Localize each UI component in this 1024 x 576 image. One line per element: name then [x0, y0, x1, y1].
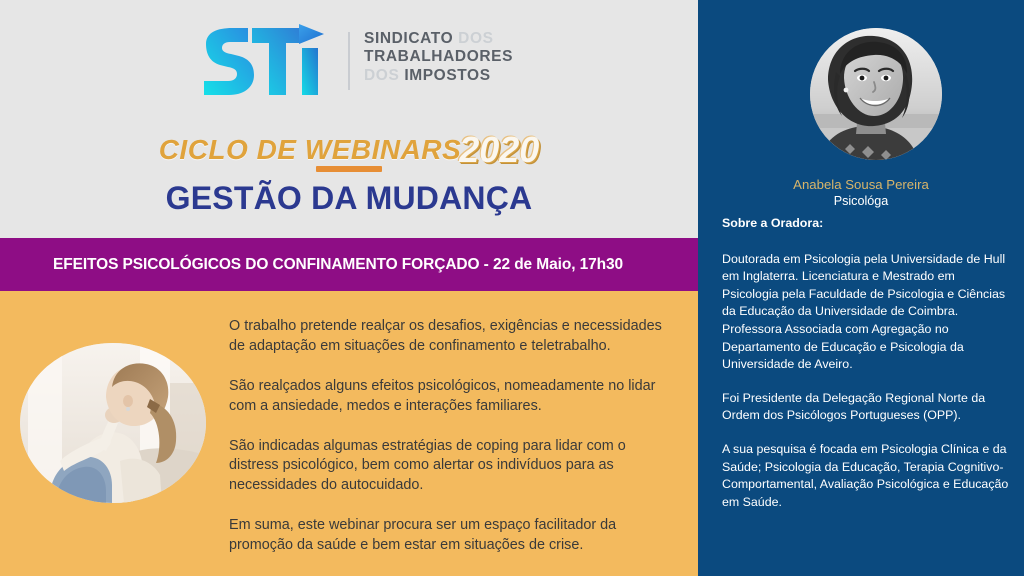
series-heading: CICLO DE WEBINARS2020 — [0, 126, 698, 170]
sti-logo: SINDICATO DOS TRABALHADORES DOS IMPOSTOS — [196, 22, 496, 102]
speaker-bio: Sobre a Oradora: Doutorada em Psicologia… — [722, 215, 1014, 512]
webinar-poster: SINDICATO DOS TRABALHADORES DOS IMPOSTOS… — [0, 0, 1024, 576]
series-year: 2020 — [459, 129, 539, 170]
description-paragraph: Em suma, este webinar procura ser um esp… — [229, 516, 677, 556]
logo-wordmark: SINDICATO DOS TRABALHADORES DOS IMPOSTOS — [364, 30, 513, 85]
speaker-name: Anabela Sousa Pereira — [698, 177, 1024, 192]
session-banner: EFEITOS PSICOLÓGICOS DO CONFINAMENTO FOR… — [0, 238, 698, 291]
logo-line3-light: DOS — [364, 67, 399, 84]
description-paragraph: São realçados alguns efeitos psicológico… — [229, 377, 677, 417]
sti-logo-mark-icon — [196, 22, 331, 100]
series-label: CICLO DE WEBINARS — [159, 134, 462, 165]
bio-paragraph: Doutorada em Psicologia pela Universidad… — [722, 251, 1014, 374]
description-paragraph: O trabalho pretende realçar os desafios,… — [229, 317, 677, 357]
bio-paragraph: A sua pesquisa é focada em Psicologia Cl… — [722, 441, 1014, 511]
session-photo — [20, 343, 206, 503]
session-banner-text: EFEITOS PSICOLÓGICOS DO CONFINAMENTO FOR… — [0, 256, 623, 274]
logo-line1-light: DOS — [458, 30, 493, 47]
description-paragraph: São indicadas algumas estratégias de cop… — [229, 437, 677, 497]
page-title: GESTÃO DA MUDANÇA — [0, 180, 698, 217]
logo-line2-dark: TRABALHADORES — [364, 48, 513, 65]
session-description: O trabalho pretende realçar os desafios,… — [229, 317, 677, 556]
logo-divider — [348, 32, 350, 90]
logo-line3-dark: IMPOSTOS — [404, 67, 490, 84]
bio-paragraph: Foi Presidente da Delegação Regional Nor… — [722, 390, 1014, 425]
speaker-role: Psicológa — [698, 194, 1024, 208]
speaker-avatar — [810, 28, 942, 160]
bio-lead-label: Sobre a Oradora: — [722, 215, 1014, 233]
title-divider-rule — [316, 166, 382, 172]
logo-line1-dark: SINDICATO — [364, 30, 453, 47]
